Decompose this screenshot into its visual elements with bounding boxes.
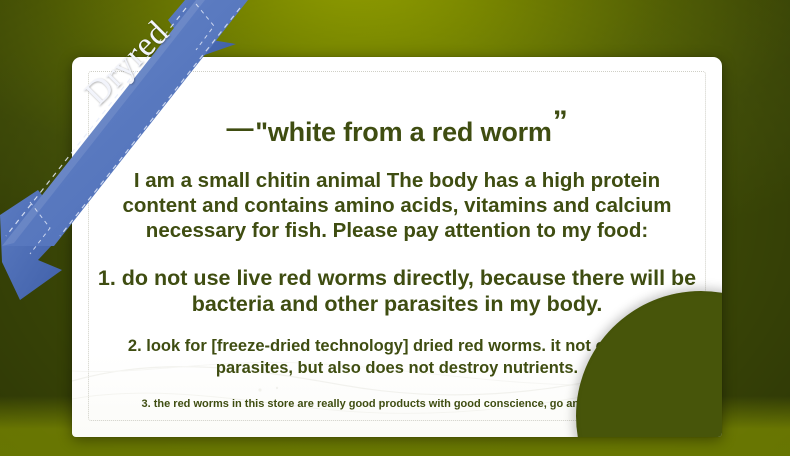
title-dash: — — [226, 113, 253, 144]
page-title: —"white from a red worm” — [72, 105, 722, 148]
content-card: —"white from a red worm” I am a small ch… — [72, 57, 722, 437]
promo-banner: —"white from a red worm” I am a small ch… — [0, 0, 790, 456]
title-quote-close: ” — [553, 105, 568, 138]
title-text: white from a red worm — [268, 117, 552, 147]
intro-paragraph: I am a small chitin animal The body has … — [109, 168, 685, 243]
point-1: 1. do not use live red worms directly, b… — [97, 265, 697, 317]
title-quote-open: " — [255, 117, 268, 147]
